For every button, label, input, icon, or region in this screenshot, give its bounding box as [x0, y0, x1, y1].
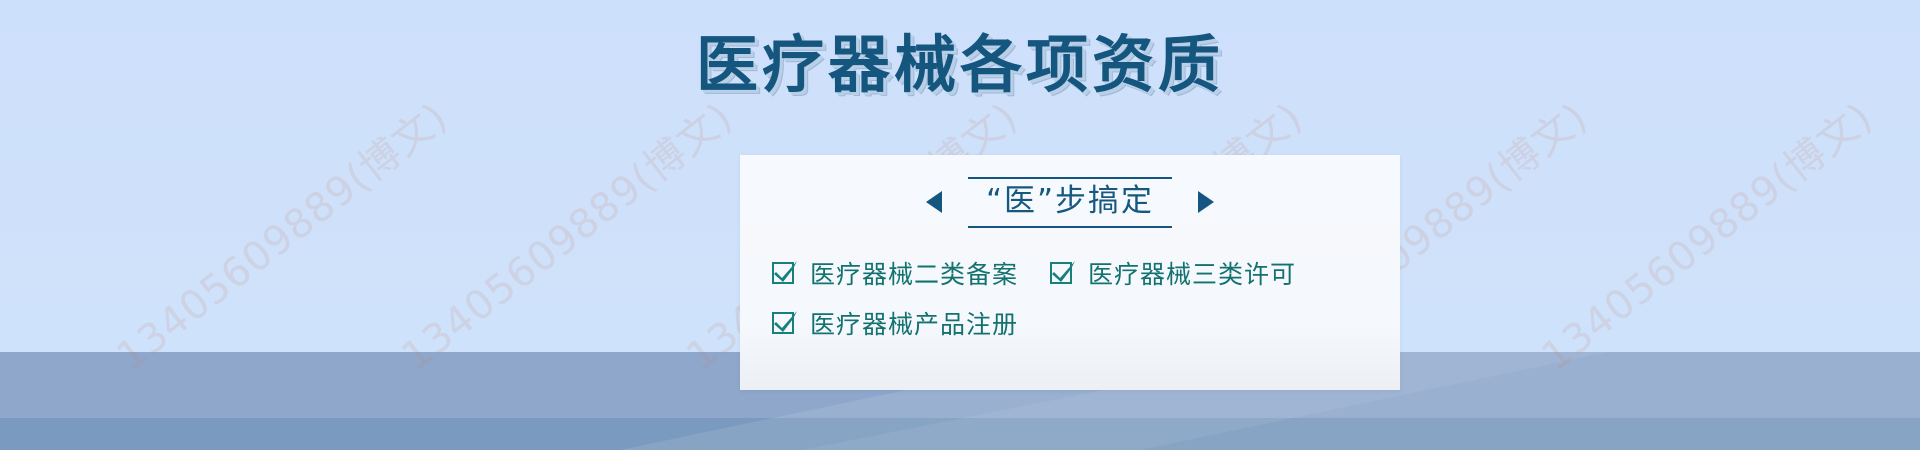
list-item: 医疗器械三类许可 — [1050, 255, 1296, 291]
info-card: “医”步搞定 医疗器械二类备案 — [740, 155, 1400, 390]
subtitle-box: “医”步搞定 — [968, 177, 1172, 228]
checkbox-checked-icon — [772, 312, 794, 334]
checklist-label: 医疗器械三类许可 — [1088, 255, 1296, 291]
checkbox-checked-icon — [772, 262, 794, 284]
subtitle-text: “医”步搞定 — [986, 184, 1154, 220]
triangle-right-icon — [1198, 191, 1214, 213]
checklist-label: 医疗器械二类备案 — [810, 255, 1018, 291]
list-item: 医疗器械二类备案 — [772, 255, 1018, 291]
checklist-row: 医疗器械产品注册 — [772, 305, 1372, 341]
page-title: 医疗器械各项资质 — [696, 34, 1224, 96]
ground-band-low — [0, 418, 1920, 450]
qualification-checklist: 医疗器械二类备案 医疗器械三类许可 — [772, 255, 1372, 355]
promo-banner: 13405609889(博文) 13405609889(博文) 13405609… — [0, 0, 1920, 450]
list-item: 医疗器械产品注册 — [772, 305, 1018, 341]
checklist-label: 医疗器械产品注册 — [810, 305, 1018, 341]
page-title-wrap: 医疗器械各项资质 — [0, 34, 1920, 96]
triangle-left-icon — [926, 191, 942, 213]
checklist-row: 医疗器械二类备案 医疗器械三类许可 — [772, 255, 1372, 291]
checkbox-checked-icon — [1050, 262, 1072, 284]
subtitle-row: “医”步搞定 — [740, 177, 1400, 228]
